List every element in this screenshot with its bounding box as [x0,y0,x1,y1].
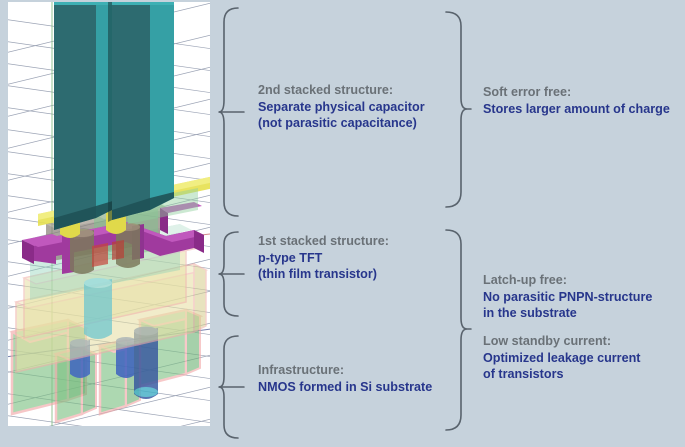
center-cyan-plug [84,278,112,339]
annotation-soft-error-free: Soft error free: Stores larger amount of… [483,84,670,117]
annotation-latch-up-free: Latch-up free: No parasitic PNPN-structu… [483,272,652,322]
annotation-body-line: No parasitic PNPN-structure [483,289,652,306]
capacitor-pillars [54,2,174,230]
brace-latch-up-and-standby [444,228,472,433]
annotation-body-line: Separate physical capacitor [258,99,425,116]
annotation-head: Infrastructure: [258,362,432,379]
brace-infrastructure [218,334,246,440]
brace-first-stacked-structure [218,230,246,318]
annotation-body-line: of transistors [483,366,640,383]
annotation-body-line: Optimized leakage current [483,350,640,367]
annotation-body-line: NMOS formed in Si substrate [258,379,432,396]
brace-second-stacked-structure [218,6,246,218]
annotation-head: Low standby current: [483,333,640,350]
annotation-body-line: in the substrate [483,305,652,322]
3d-stacked-cell-render [8,2,210,426]
annotation-head: 1st stacked structure: [258,233,389,250]
annotation-body-line: (thin film transistor) [258,266,389,283]
annotation-body-line: p-type TFT [258,250,389,267]
annotation-second-stacked-structure: 2nd stacked structure: Separate physical… [258,82,425,132]
annotation-head: 2nd stacked structure: [258,82,425,99]
brace-soft-error-free [444,10,472,210]
annotation-low-standby-current: Low standby current: Optimized leakage c… [483,333,640,383]
annotation-head: Soft error free: [483,84,670,101]
annotation-body-line: (not parasitic capacitance) [258,115,425,132]
annotation-head: Latch-up free: [483,272,652,289]
annotation-body-line: Stores larger amount of charge [483,101,670,118]
annotation-first-stacked-structure: 1st stacked structure: p-type TFT (thin … [258,233,389,283]
annotation-infrastructure: Infrastructure: NMOS formed in Si substr… [258,362,432,395]
